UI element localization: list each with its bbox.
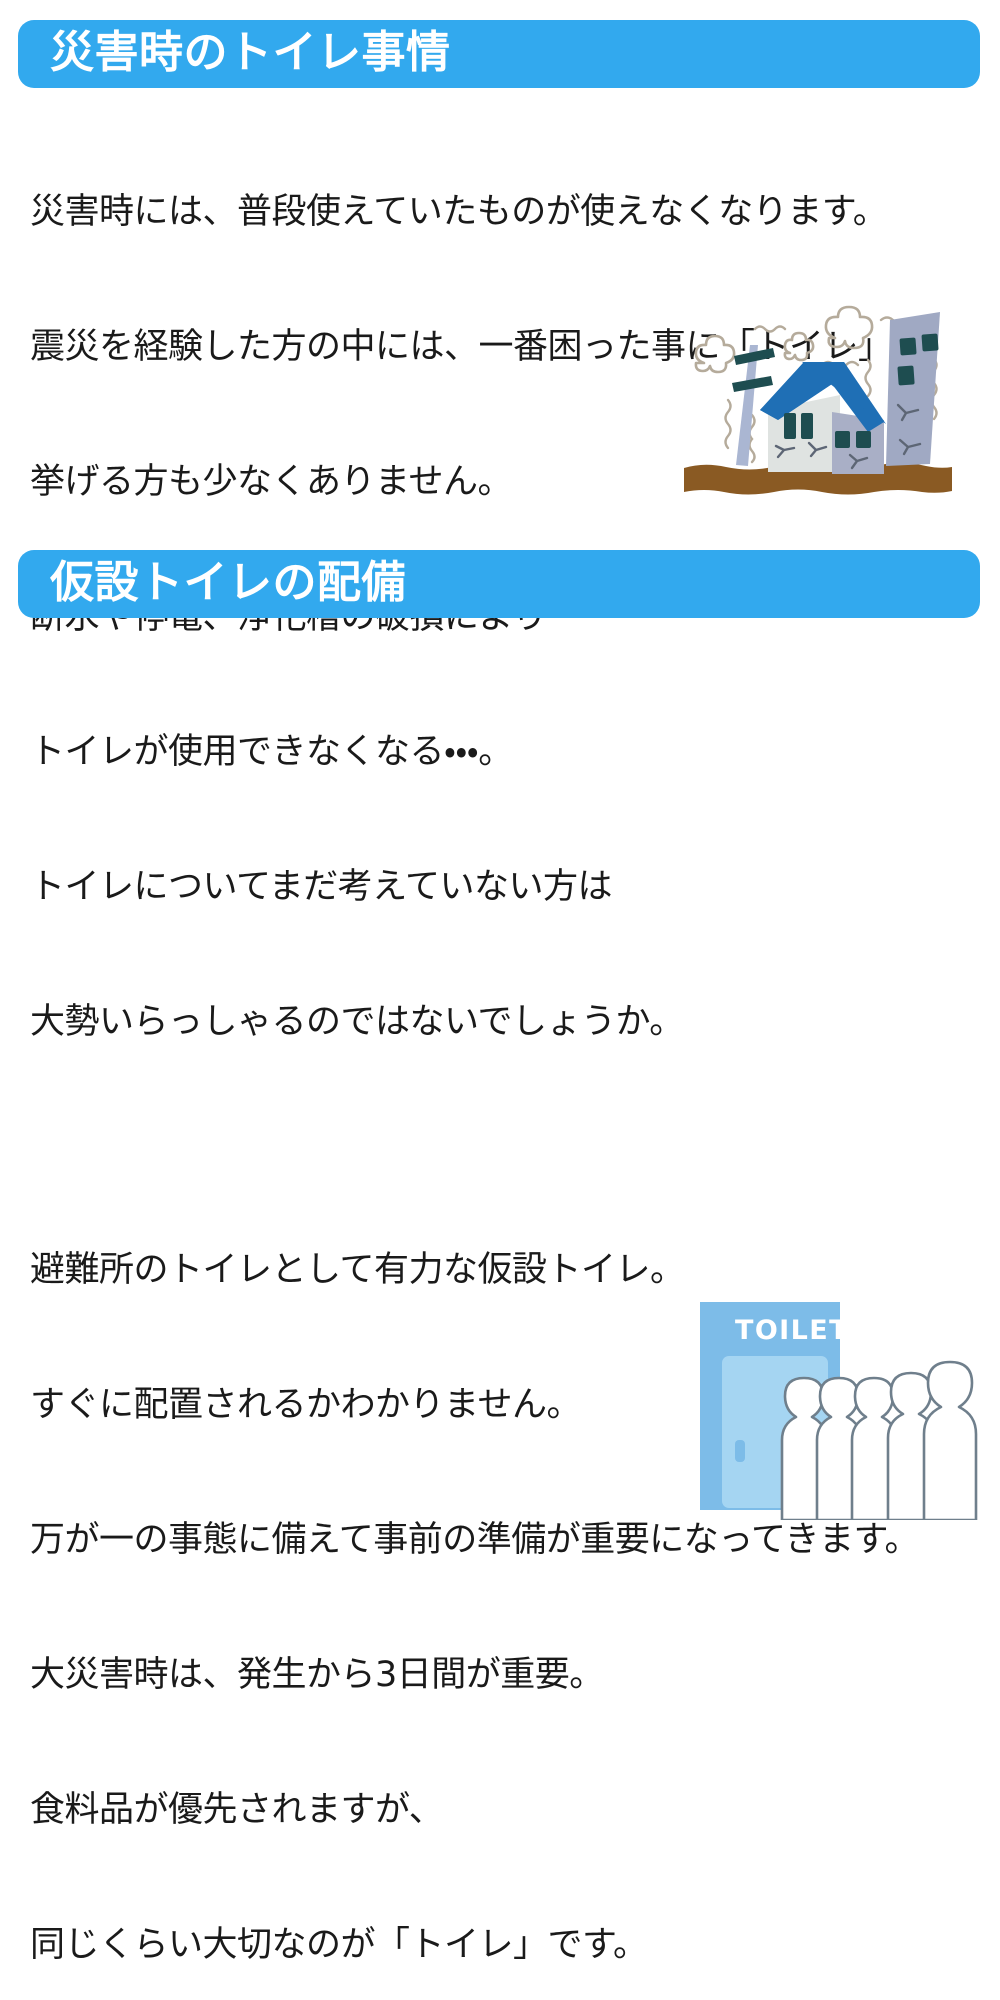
body-line: 避難所のトイレとして有力な仮設トイレ。 <box>30 1248 919 1293</box>
section-body-portable: 避難所のトイレとして有力な仮設トイレ。 すぐに配置されるかわかりません。 万が一… <box>30 1158 919 2000</box>
body-line: 食料品が優先されますが、 <box>30 1788 919 1833</box>
infographic-page: 災害時のトイレ事情 災害時には、普段使えていたものが使えなくなります。 震災を経… <box>0 0 1000 1000</box>
toilet-queue-illustration: TOILET <box>692 1292 980 1520</box>
body-line: 万が一の事態に備えて事前の準備が重要になってきます。 <box>30 1518 919 1563</box>
section-header-title-portable: 仮設トイレの配備 <box>50 561 406 605</box>
section-header-bar-portable: 仮設トイレの配備 <box>18 550 980 618</box>
toilet-sign-text: TOILET <box>735 1315 849 1346</box>
body-line: 大勢いらっしゃるのではないでしょうか。 <box>30 1000 927 1045</box>
body-line: トイレが使用できなくなる・・・。 <box>30 730 927 775</box>
body-line: トイレについてまだ考えていない方は <box>30 865 927 910</box>
body-line: 同じくらい大切なのが「トイレ」です。 <box>30 1923 919 1968</box>
body-line: 災害時には、普段使えていたものが使えなくなります。 <box>30 190 927 235</box>
body-line: 大災害時は、発生から3日間が重要。 <box>30 1653 919 1698</box>
section-header-bar-disaster: 災害時のトイレ事情 <box>18 20 980 88</box>
earthquake-damage-illustration <box>672 300 964 500</box>
section-header-title-disaster: 災害時のトイレ事情 <box>50 31 451 75</box>
